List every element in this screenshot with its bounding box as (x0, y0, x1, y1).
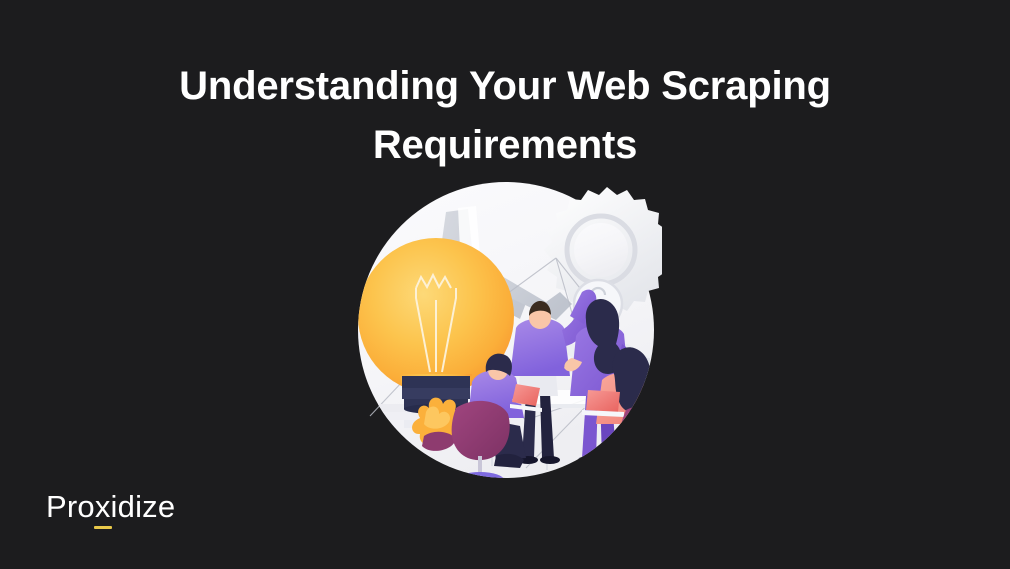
page-title: Understanding Your Web Scraping Requirem… (0, 57, 1010, 175)
team-brainstorming-illustration (350, 168, 662, 480)
logo-underline-accent (94, 526, 112, 529)
illustration-svg (350, 168, 662, 480)
chair-right (620, 405, 662, 480)
logo-x-highlight: x (95, 489, 111, 525)
brand-logo[interactable]: Proxidize (46, 489, 175, 525)
logo-text-after: idize (111, 489, 176, 524)
slide-canvas: Understanding Your Web Scraping Requirem… (0, 0, 1010, 569)
logo-x-letter: x (95, 489, 111, 524)
logo-text-before: Pro (46, 489, 95, 524)
